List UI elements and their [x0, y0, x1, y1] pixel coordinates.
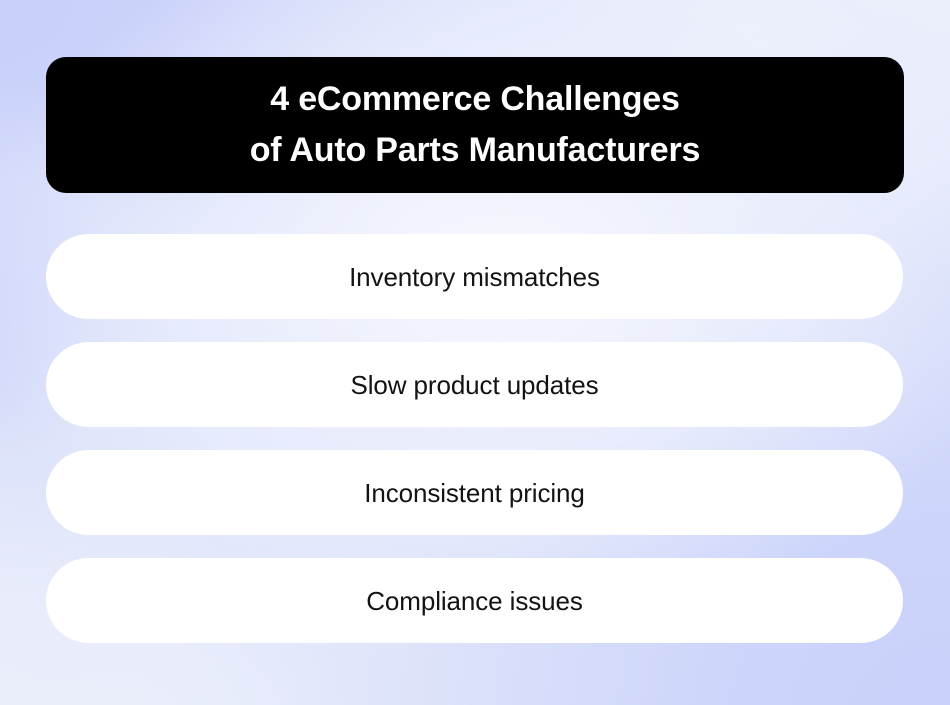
- challenge-card-2: Slow product updates: [46, 342, 903, 427]
- page-title: 4 eCommerce Challenges of Auto Parts Man…: [250, 74, 701, 176]
- page-title-line-2: of Auto Parts Manufacturers: [250, 125, 701, 176]
- challenge-card-3: Inconsistent pricing: [46, 450, 903, 535]
- challenge-label-2: Slow product updates: [350, 370, 598, 400]
- challenge-label-3: Inconsistent pricing: [364, 478, 585, 508]
- challenge-label-4: Compliance issues: [366, 586, 583, 616]
- page-title-line-1: 4 eCommerce Challenges: [250, 74, 701, 125]
- challenge-card-list: Inventory mismatches Slow product update…: [46, 234, 904, 643]
- challenge-card-4: Compliance issues: [46, 558, 903, 643]
- infographic-stage: 4 eCommerce Challenges of Auto Parts Man…: [0, 0, 950, 705]
- challenge-label-1: Inventory mismatches: [349, 262, 600, 292]
- title-card: 4 eCommerce Challenges of Auto Parts Man…: [46, 57, 904, 193]
- challenge-card-1: Inventory mismatches: [46, 234, 903, 319]
